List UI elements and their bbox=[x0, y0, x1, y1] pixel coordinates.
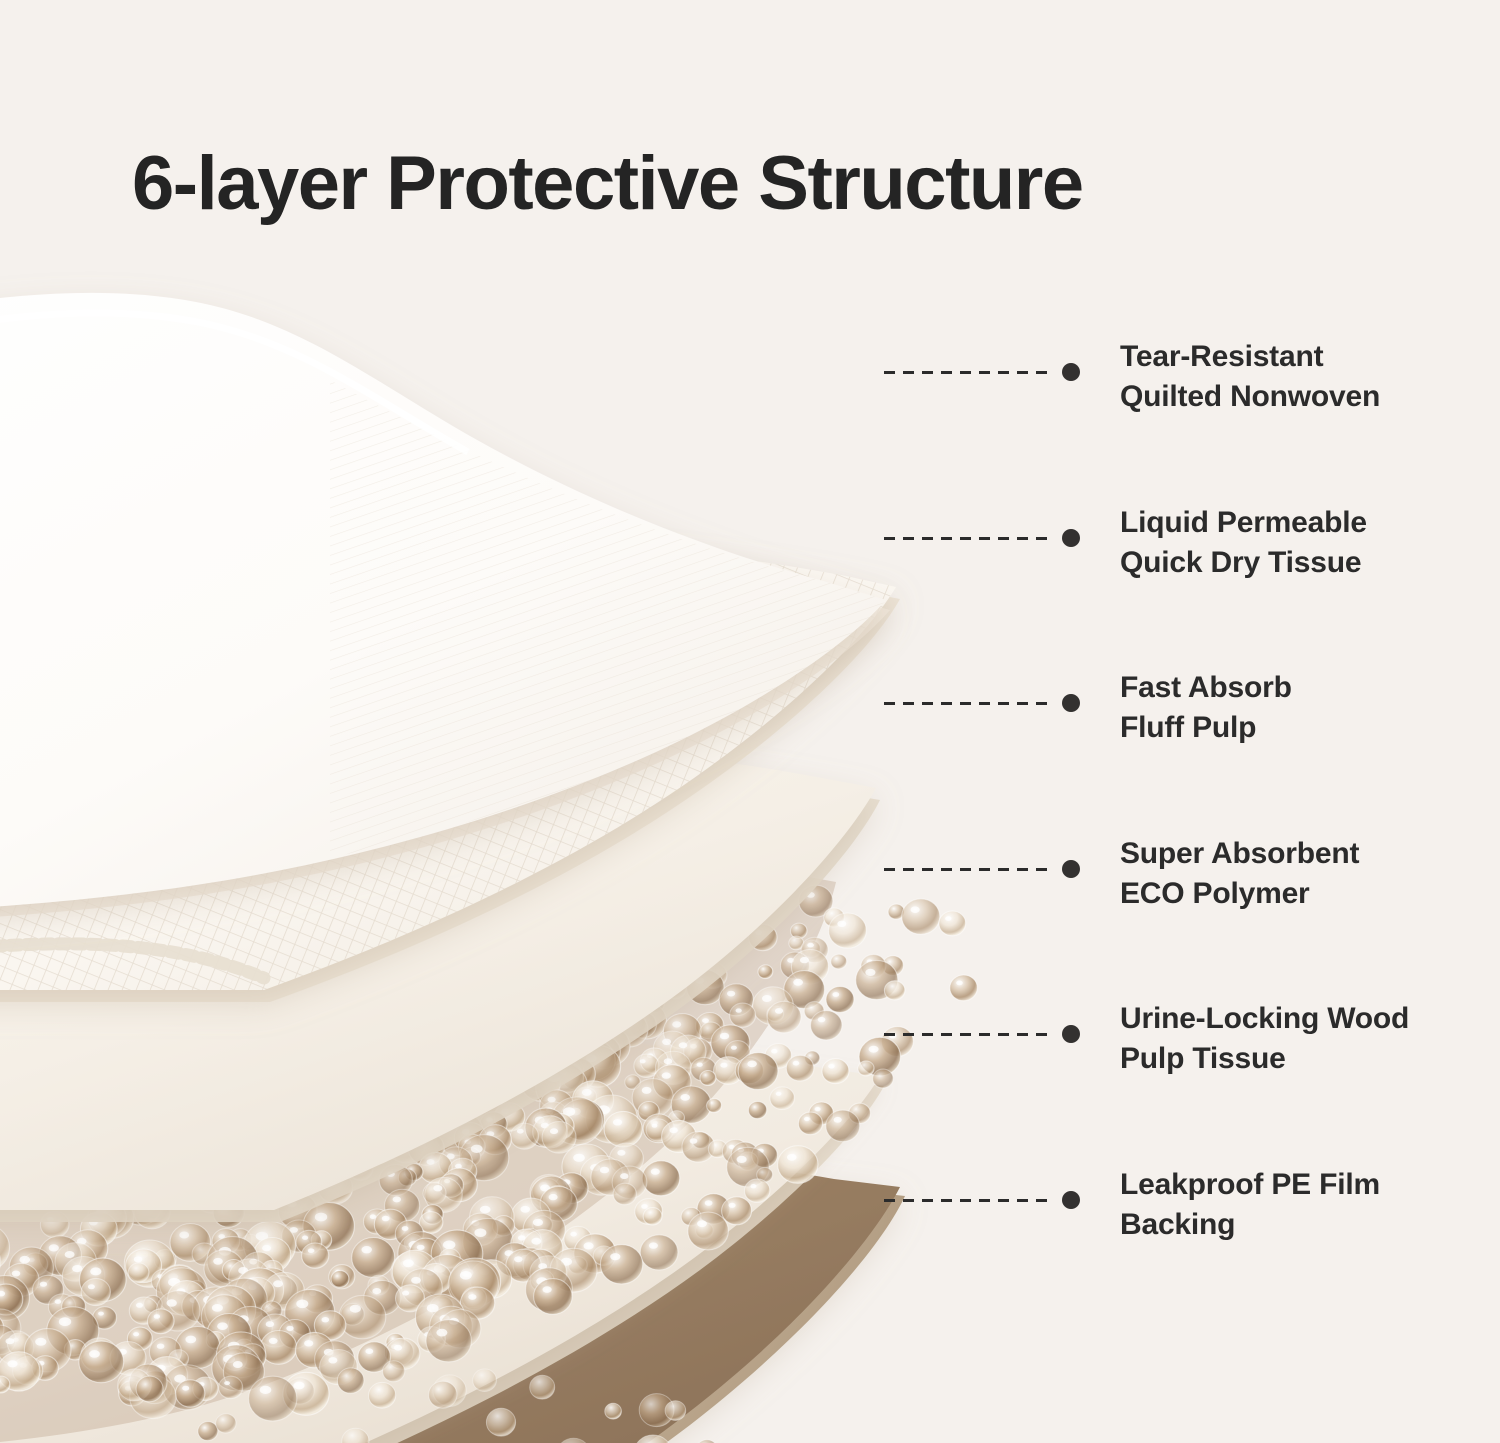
leader-line-icon bbox=[884, 868, 1052, 871]
callout-label-line2: Quilted Nonwoven bbox=[1120, 377, 1450, 417]
leader-line-icon bbox=[884, 371, 1052, 374]
layer-stack-illustration bbox=[0, 250, 1000, 1443]
callout-label-line1: Liquid Permeable bbox=[1120, 506, 1367, 539]
leader-line-icon bbox=[884, 1033, 1052, 1036]
callout-label: Leakproof PE FilmBacking bbox=[1120, 1165, 1450, 1245]
callout-label-line1: Urine-Locking Wood bbox=[1120, 1002, 1409, 1035]
callout-label-line2: Quick Dry Tissue bbox=[1120, 543, 1450, 583]
leader-line-icon bbox=[884, 537, 1052, 540]
callout-label-line1: Fast Absorb bbox=[1120, 671, 1292, 704]
callout-label: Tear-ResistantQuilted Nonwoven bbox=[1120, 337, 1450, 417]
leader-dot-icon bbox=[1062, 694, 1080, 712]
leader-dot-icon bbox=[1062, 1025, 1080, 1043]
callout-label-line1: Leakproof PE Film bbox=[1120, 1168, 1380, 1201]
callout-label: Urine-Locking WoodPulp Tissue bbox=[1120, 999, 1450, 1079]
callout-label: Liquid PermeableQuick Dry Tissue bbox=[1120, 503, 1450, 583]
callout-label-line2: Fluff Pulp bbox=[1120, 708, 1450, 748]
leader-dot-icon bbox=[1062, 529, 1080, 547]
callout-label: Super AbsorbentECO Polymer bbox=[1120, 834, 1450, 914]
callout-label: Fast AbsorbFluff Pulp bbox=[1120, 668, 1450, 748]
callout-label-line2: Pulp Tissue bbox=[1120, 1039, 1450, 1079]
leader-dot-icon bbox=[1062, 860, 1080, 878]
infographic-canvas: 6-layer Protective Structure bbox=[0, 0, 1500, 1443]
page-title: 6-layer Protective Structure bbox=[132, 146, 1382, 222]
callout-label-line2: Backing bbox=[1120, 1205, 1450, 1245]
callout-label-line1: Tear-Resistant bbox=[1120, 340, 1323, 373]
leader-line-icon bbox=[884, 702, 1052, 705]
callout-label-line2: ECO Polymer bbox=[1120, 874, 1450, 914]
leader-dot-icon bbox=[1062, 1191, 1080, 1209]
leader-dot-icon bbox=[1062, 363, 1080, 381]
callout-label-line1: Super Absorbent bbox=[1120, 837, 1359, 870]
leader-line-icon bbox=[884, 1199, 1052, 1202]
